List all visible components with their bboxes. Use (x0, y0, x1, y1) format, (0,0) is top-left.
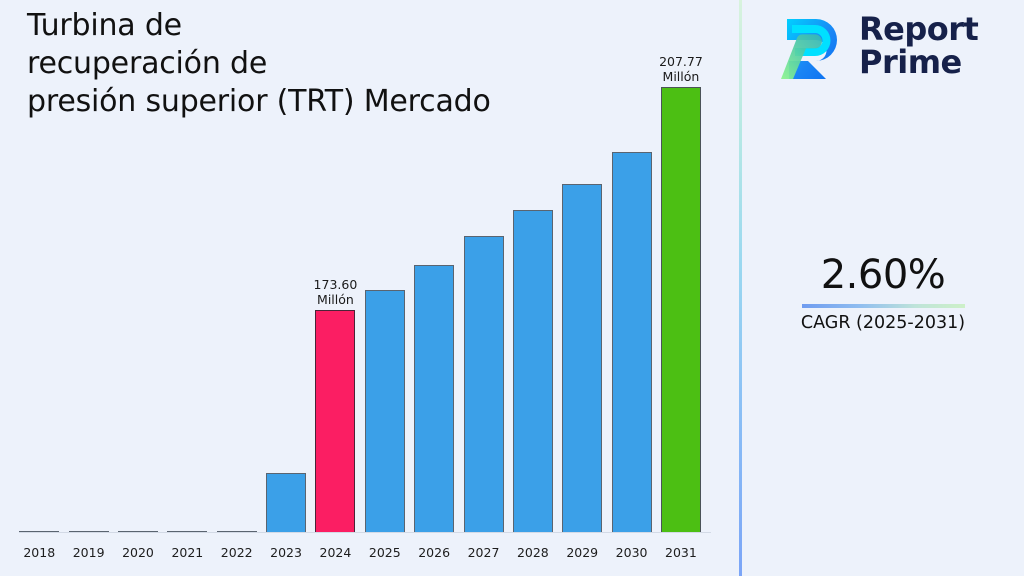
x-tick-2025: 2025 (360, 545, 409, 560)
cagr-divider-rule (802, 304, 965, 308)
cagr-caption: CAGR (2025-2031) (742, 312, 1024, 334)
bar-2028[interactable] (508, 33, 557, 533)
bar-2029[interactable] (558, 33, 607, 533)
bar-2020[interactable] (113, 33, 162, 533)
x-tick-2022: 2022 (212, 545, 261, 560)
report-prime-logo-icon (775, 10, 847, 82)
bar-rect-2023[interactable] (266, 473, 306, 533)
bar-2022[interactable] (212, 33, 261, 533)
bar-2025[interactable] (360, 33, 409, 533)
bar-2019[interactable] (64, 33, 113, 533)
bar-rect-2031[interactable] (661, 87, 701, 533)
x-tick-2028: 2028 (508, 545, 557, 560)
bar-rect-2024[interactable] (315, 310, 355, 533)
x-tick-2021: 2021 (163, 545, 212, 560)
x-tick-2026: 2026 (409, 545, 458, 560)
x-tick-2029: 2029 (558, 545, 607, 560)
x-tick-2020: 2020 (113, 545, 162, 560)
cagr-value: 2.60% (742, 252, 1024, 298)
bar-2023[interactable] (261, 33, 310, 533)
brand-panel: Report Prime 2.60% CAGR (2025-2031) (742, 0, 1024, 576)
bar-2027[interactable] (459, 33, 508, 533)
cagr-block: 2.60% CAGR (2025-2031) (742, 252, 1024, 334)
infographic-root: Turbina de recuperación de presión super… (0, 0, 1024, 576)
bar-2031[interactable]: 207.77 Millón (656, 33, 705, 533)
x-axis-line (19, 532, 711, 533)
brand-name: Report Prime (859, 13, 978, 79)
bar-rect-2027[interactable] (464, 236, 504, 533)
bar-chart-plot: 173.60 Millón207.77 Millón 2018201920202… (0, 0, 739, 576)
x-tick-2030: 2030 (607, 545, 656, 560)
bar-rect-2026[interactable] (414, 265, 454, 533)
x-tick-2019: 2019 (64, 545, 113, 560)
bar-2026[interactable] (409, 33, 458, 533)
bar-2030[interactable] (607, 33, 656, 533)
bar-rect-2029[interactable] (562, 184, 602, 533)
chart-panel: Turbina de recuperación de presión super… (0, 0, 739, 576)
bar-rect-2030[interactable] (612, 152, 652, 533)
x-tick-2031: 2031 (656, 545, 705, 560)
bar-rect-2028[interactable] (513, 210, 553, 534)
brand-logo-block: Report Prime (775, 10, 978, 82)
bar-value-label-2024: 173.60 Millón (314, 277, 358, 307)
bar-rect-2025[interactable] (365, 290, 405, 533)
x-tick-2024: 2024 (311, 545, 360, 560)
x-tick-2027: 2027 (459, 545, 508, 560)
bar-2018[interactable] (15, 33, 64, 533)
x-tick-2018: 2018 (15, 545, 64, 560)
bar-value-label-2031: 207.77 Millón (659, 54, 703, 84)
bar-2021[interactable] (163, 33, 212, 533)
bar-2024[interactable]: 173.60 Millón (311, 33, 360, 533)
x-tick-2023: 2023 (261, 545, 310, 560)
